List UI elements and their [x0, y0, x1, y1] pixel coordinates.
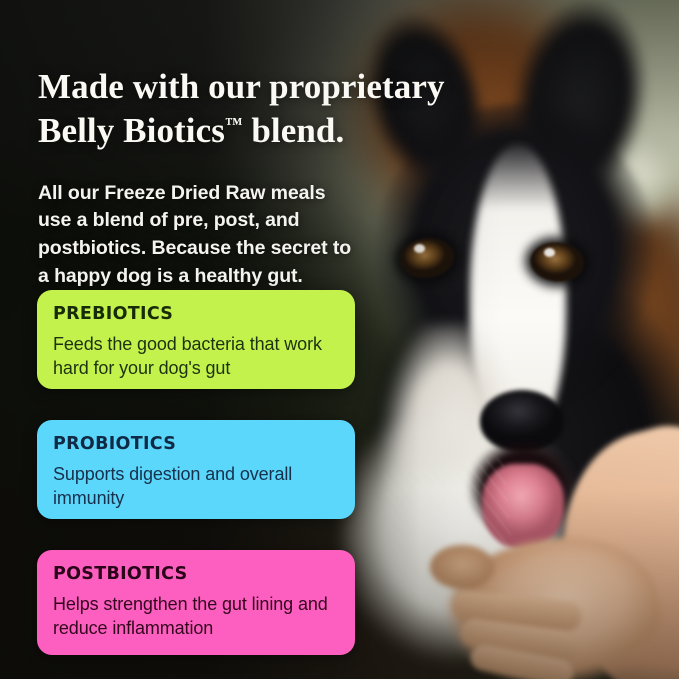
- benefit-card-prebiotics: PREBIOTICS Feeds the good bacteria that …: [37, 290, 355, 389]
- benefit-card-label: PREBIOTICS: [53, 304, 339, 324]
- page-title: Made with our proprietaryBelly Biotics™ …: [38, 65, 468, 152]
- benefit-card-postbiotics: POSTBIOTICS Helps strengthen the gut lin…: [37, 550, 355, 655]
- headline-brand: Belly Biotics: [38, 111, 225, 150]
- benefit-card-probiotics: PROBIOTICS Supports digestion and overal…: [37, 420, 355, 519]
- headline-line-2-suffix: blend.: [242, 111, 344, 150]
- benefit-card-description: Feeds the good bacteria that work hard f…: [53, 333, 339, 381]
- benefit-card-description: Supports digestion and overall immunity: [53, 463, 339, 511]
- content-overlay: Made with our proprietaryBelly Biotics™ …: [0, 0, 679, 679]
- subcopy-paragraph: All our Freeze Dried Raw meals use a ble…: [38, 180, 358, 291]
- promo-image: Made with our proprietaryBelly Biotics™ …: [0, 0, 679, 679]
- headline-line-1: Made with our proprietary: [38, 67, 445, 106]
- benefit-card-label: POSTBIOTICS: [53, 564, 339, 584]
- benefit-card-label: PROBIOTICS: [53, 434, 339, 454]
- trademark-symbol: ™: [225, 113, 243, 133]
- benefit-card-description: Helps strengthen the gut lining and redu…: [53, 593, 339, 641]
